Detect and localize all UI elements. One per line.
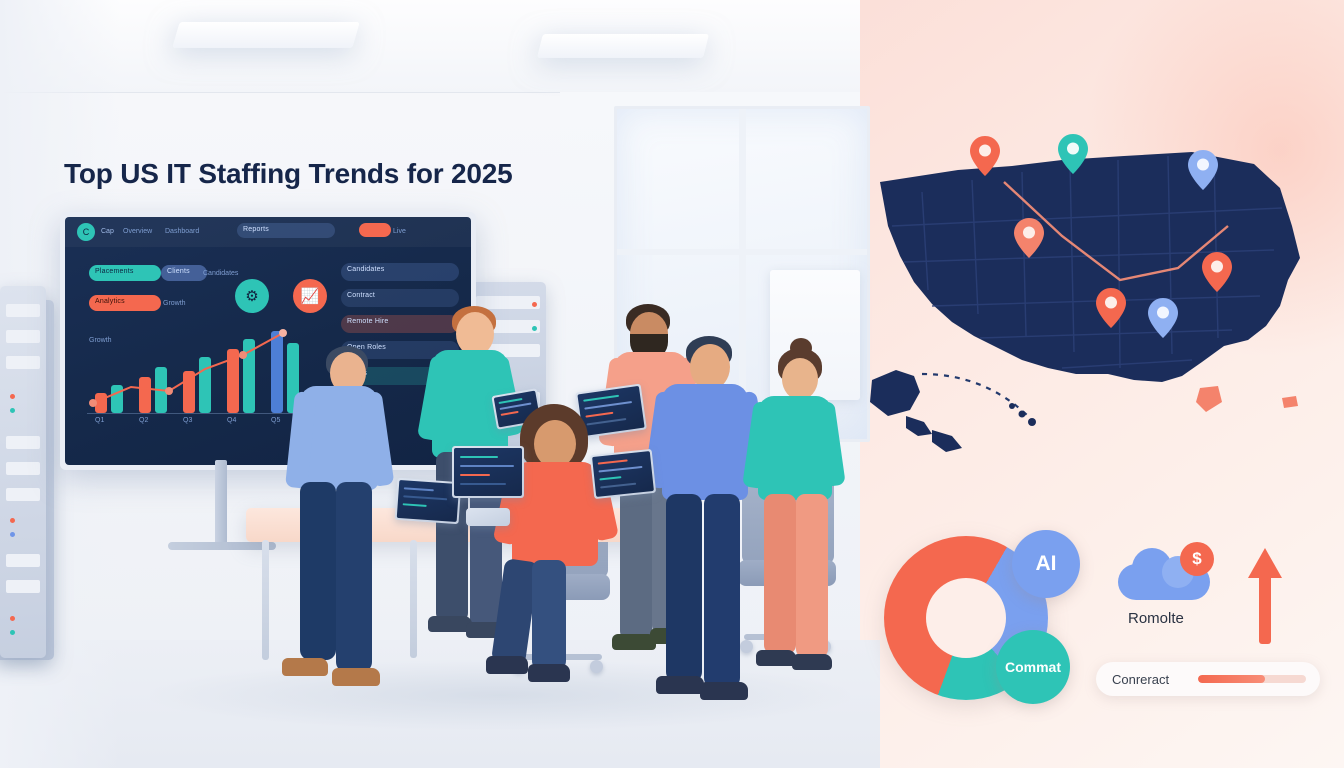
illustration-canvas: C Cap Overview Dashboard Reports Live Pl… — [0, 0, 1344, 768]
dashboard-toggle-label: Live — [393, 228, 406, 235]
us-map — [862, 130, 1322, 470]
axis-tick-q5: Q5 — [271, 417, 280, 424]
pin-northwest[interactable] — [970, 136, 1000, 176]
dashboard-nav-overview[interactable]: Overview — [123, 228, 152, 235]
laptop-device[interactable] — [590, 449, 656, 499]
pin-east[interactable] — [1202, 252, 1232, 292]
page-title: Top US IT Staffing Trends for 2025 — [64, 158, 513, 190]
table-leg — [410, 540, 417, 658]
hair-bun — [790, 338, 812, 358]
axis-tick-q3: Q3 — [183, 417, 192, 424]
tag-clients[interactable]: Clients — [161, 265, 207, 281]
axis-tick-q4: Q4 — [227, 417, 236, 424]
panel-row-candidates[interactable]: Candidates — [341, 263, 459, 281]
dashboard-toggle[interactable] — [359, 223, 391, 237]
label-remote: Romolte — [1128, 610, 1184, 627]
tag-analytics[interactable]: Analytics — [89, 295, 161, 311]
office-ceiling — [0, 0, 860, 92]
donut-chart-hole — [926, 578, 1006, 658]
table-laptop-center[interactable] — [452, 446, 524, 498]
table-tablet-flat[interactable] — [466, 508, 510, 526]
pin-south-central[interactable] — [1148, 298, 1178, 338]
panel-row-contract[interactable]: Contract — [341, 289, 459, 307]
window-mullion-horizontal — [617, 249, 867, 255]
wall-display[interactable]: C Cap Overview Dashboard Reports Live Pl… — [60, 212, 476, 470]
dashboard-search-field[interactable]: Reports — [237, 223, 335, 238]
wall-display-screen: C Cap Overview Dashboard Reports Live Pl… — [65, 217, 471, 465]
dashboard-logo-icon: C — [77, 223, 95, 241]
pin-west[interactable] — [1014, 218, 1044, 258]
panel-row-remote[interactable]: Remote Hire — [341, 315, 459, 333]
progress-track — [1198, 675, 1306, 683]
us-map-svg — [862, 130, 1322, 470]
ceiling-light-2 — [537, 34, 709, 58]
server-rack-left-front — [0, 286, 46, 658]
cloud-icon: $ — [1118, 546, 1214, 604]
screen-section-label: Candidates — [203, 270, 238, 277]
pin-central[interactable] — [1096, 288, 1126, 328]
ceiling-light-1 — [172, 22, 359, 48]
dashboard-nav-dashboard[interactable]: Dashboard — [165, 228, 199, 235]
dollar-badge-icon: $ — [1180, 542, 1214, 576]
progress-pill-label: Conreract — [1112, 672, 1169, 687]
tag-analytics-note: Growth — [163, 300, 186, 307]
chair-wheel — [740, 640, 753, 653]
axis-tick-q1: Q1 — [95, 417, 104, 424]
display-stand-post — [215, 460, 227, 544]
pin-northeast[interactable] — [1188, 150, 1218, 190]
dashboard-logo-label: Cap — [101, 228, 114, 235]
axis-tick-q2: Q2 — [139, 417, 148, 424]
badge-ai[interactable]: AI — [1012, 530, 1080, 598]
table-leg — [262, 540, 269, 660]
trendline — [85, 325, 311, 417]
pin-north-central[interactable] — [1058, 134, 1088, 174]
progress-pill[interactable]: Conreract — [1096, 662, 1320, 696]
progress-fill — [1198, 675, 1265, 683]
badge-contract[interactable]: Commat — [996, 630, 1070, 704]
tag-placements[interactable]: Placements — [89, 265, 161, 281]
chair-wheel — [590, 660, 603, 673]
gear-icon[interactable]: ⚙ — [235, 279, 269, 313]
trend-up-arrow-icon — [1248, 548, 1282, 644]
chart-icon[interactable]: 📈 — [293, 279, 327, 313]
display-stand-foot — [168, 542, 276, 550]
